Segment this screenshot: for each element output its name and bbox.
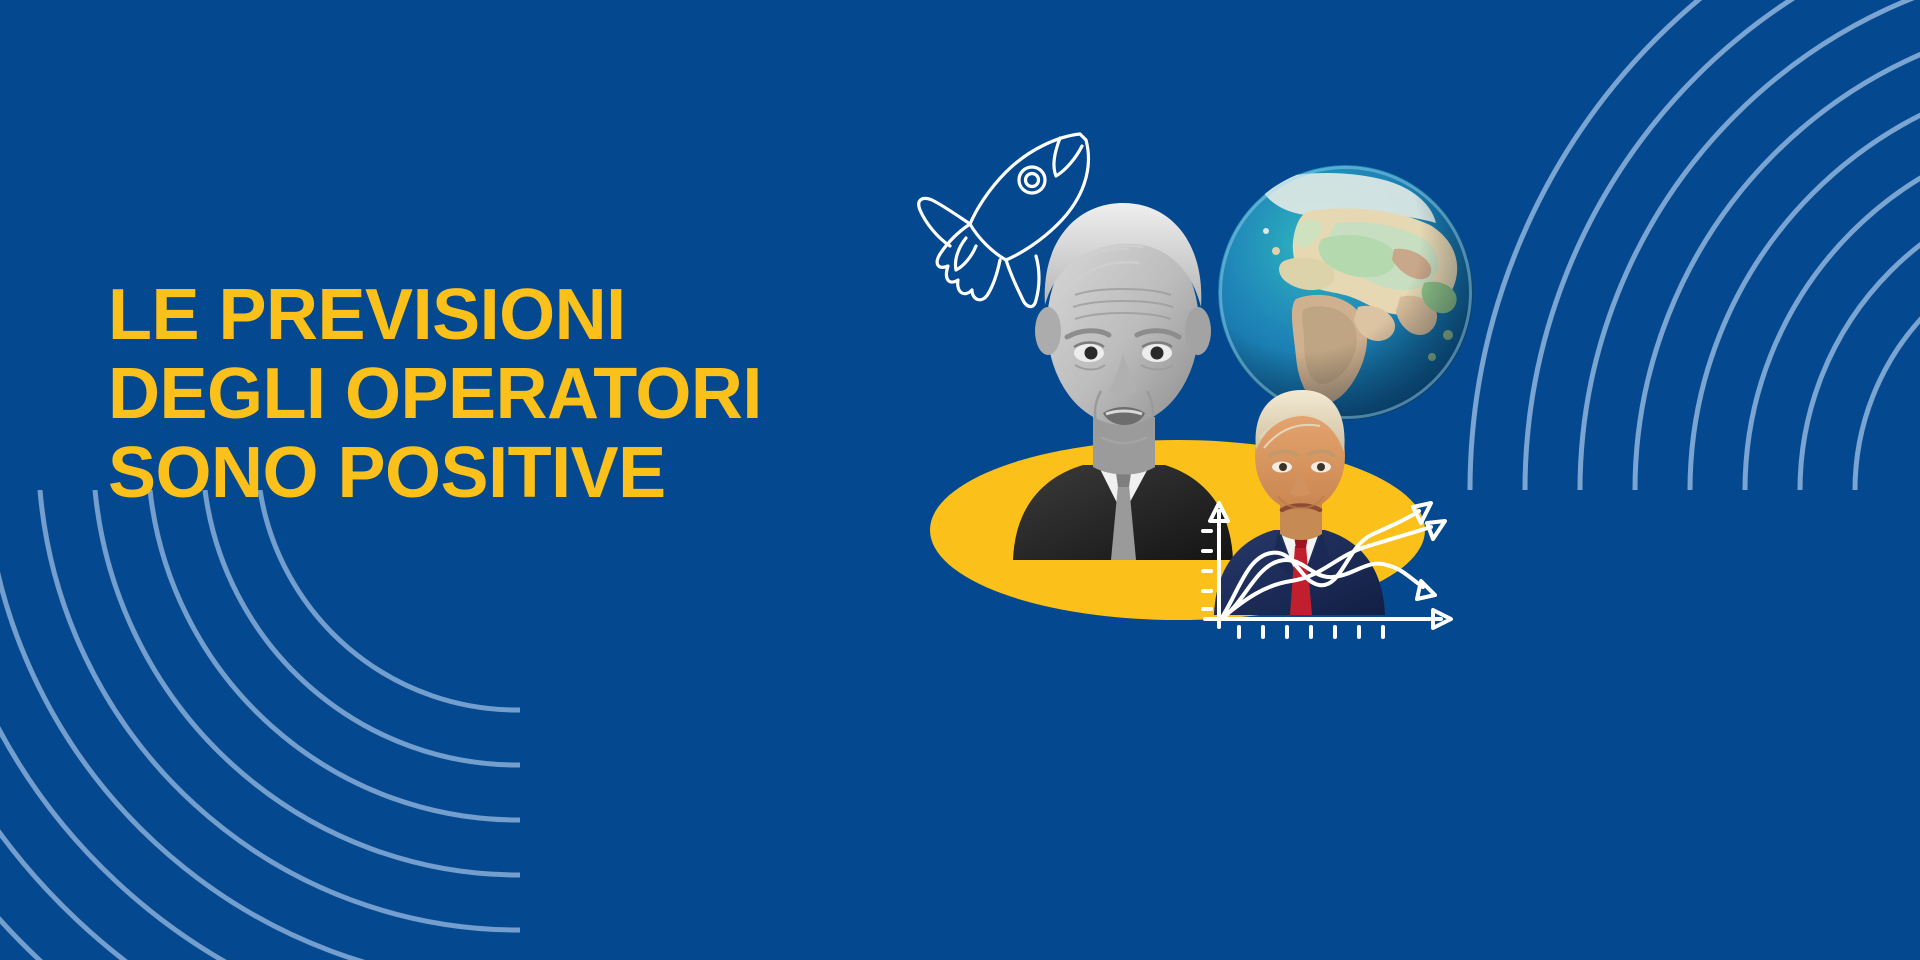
promo-banner: LE PREVISIONI DEGLI OPERATORI SONO POSIT… — [0, 0, 1920, 960]
headline-line-3: SONO POSITIVE — [108, 434, 908, 513]
concentric-arcs-top-right-icon — [1410, 0, 1920, 490]
headline: LE PREVISIONI DEGLI OPERATORI SONO POSIT… — [108, 276, 908, 513]
concentric-arcs-bottom-left-icon — [0, 490, 520, 960]
growth-chart-icon — [1195, 495, 1465, 640]
headline-line-1: LE PREVISIONI — [108, 276, 908, 355]
headline-line-2: DEGLI OPERATORI — [108, 355, 908, 434]
